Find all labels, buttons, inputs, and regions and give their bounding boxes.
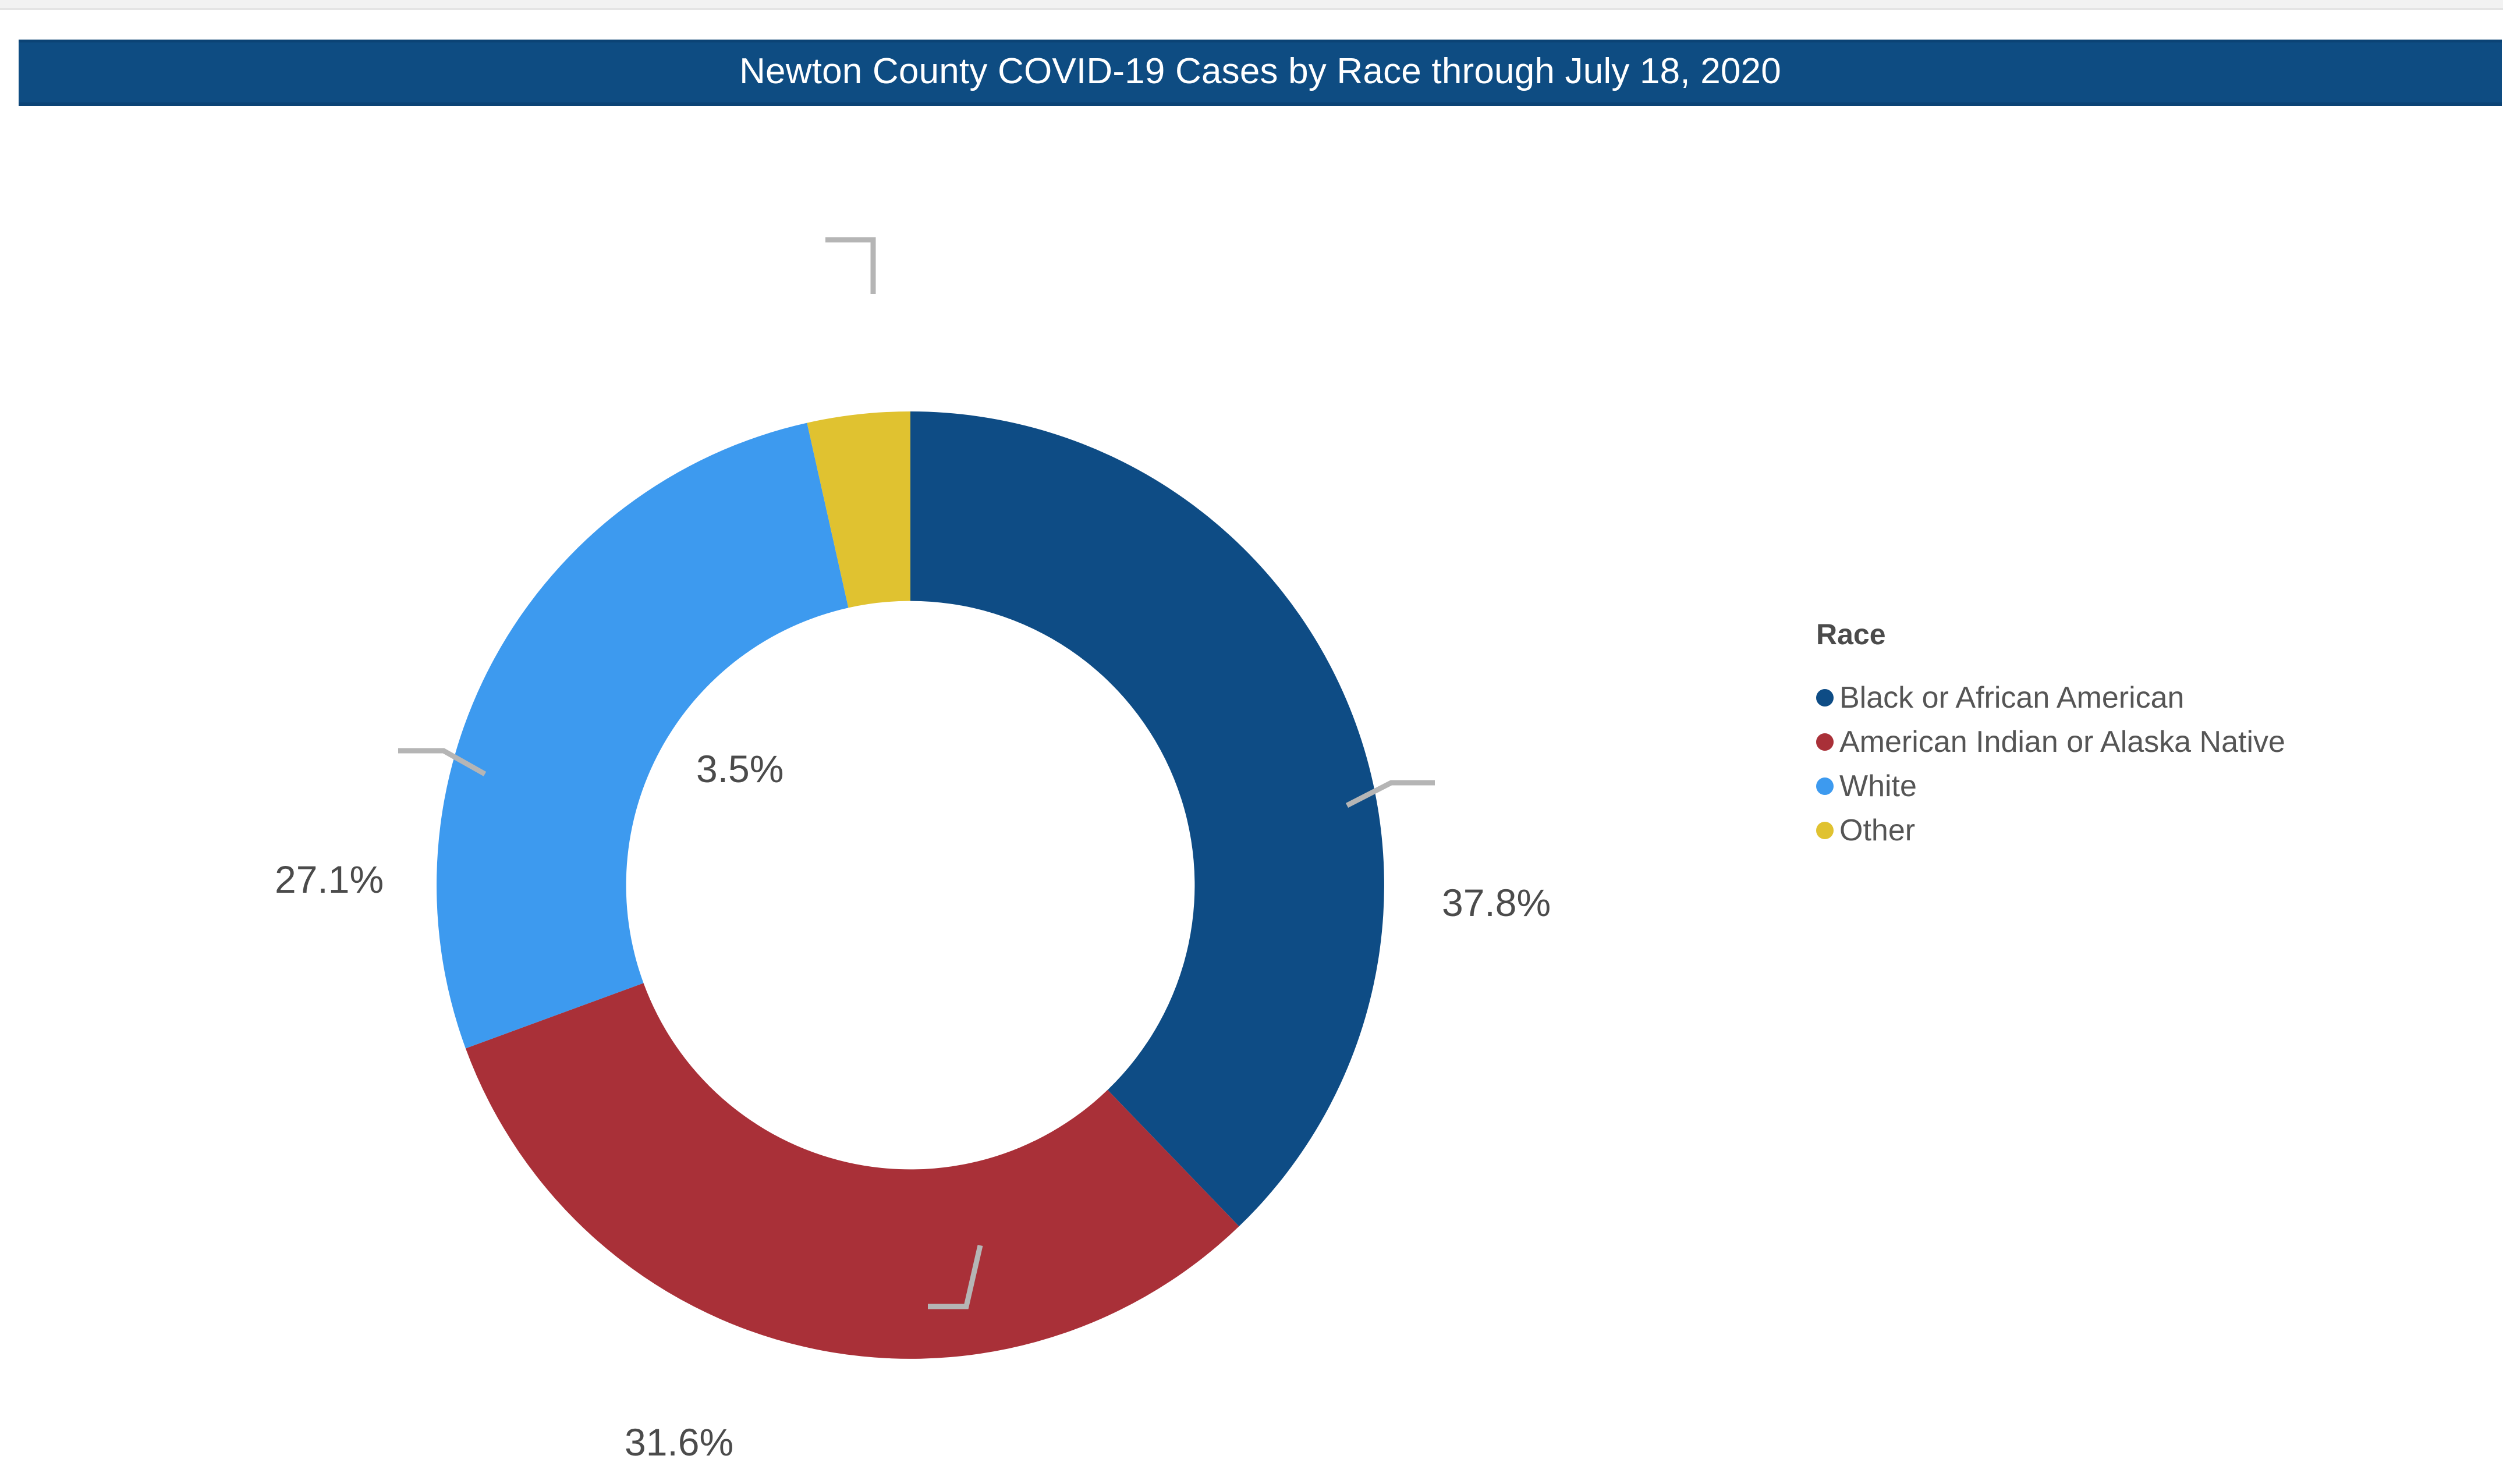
window-top-strip	[0, 0, 2503, 8]
legend-item-label: Black or African American	[1839, 683, 2184, 713]
data-label-american-indian-or-alaska-native: 31.6%	[625, 1423, 733, 1461]
legend-swatch-icon	[1816, 733, 1834, 751]
legend-item-white[interactable]: White	[1816, 764, 2503, 808]
data-label-other: 3.5%	[696, 750, 783, 788]
window-top-divider	[0, 8, 2503, 10]
chart-title-banner: Newton County COVID-19 Cases by Race thr…	[19, 40, 2502, 106]
pie-slice-american-indian-or-alaska-native[interactable]	[466, 983, 1239, 1359]
donut-chart: 3.5% 37.8% 27.1% 31.6%	[0, 111, 1804, 1472]
legend-item-black-or-african-american[interactable]: Black or African American	[1816, 676, 2503, 720]
legend-item-label: White	[1839, 771, 1917, 801]
data-label-white: 27.1%	[275, 860, 384, 899]
legend-item-other[interactable]: Other	[1816, 808, 2503, 853]
pie-slice-black-or-african-american[interactable]	[910, 411, 1384, 1226]
legend-title: Race	[1816, 620, 2503, 649]
legend-item-label: Other	[1839, 815, 1915, 846]
chart-legend: Race Black or African American American …	[1804, 620, 2503, 853]
legend-item-american-indian-or-alaska-native[interactable]: American Indian or Alaska Native	[1816, 720, 2503, 764]
legend-swatch-icon	[1816, 822, 1834, 839]
legend-item-label: American Indian or Alaska Native	[1839, 727, 2285, 757]
legend-swatch-icon	[1816, 777, 1834, 795]
donut-chart-svg	[0, 111, 1804, 1472]
legend-swatch-icon	[1816, 689, 1834, 707]
data-label-black-or-african-american: 37.8%	[1442, 883, 1551, 922]
pie-slice-white[interactable]	[437, 423, 848, 1049]
page-title: Newton County COVID-19 Cases by Race thr…	[739, 54, 1781, 90]
leader-line-other	[825, 240, 873, 294]
